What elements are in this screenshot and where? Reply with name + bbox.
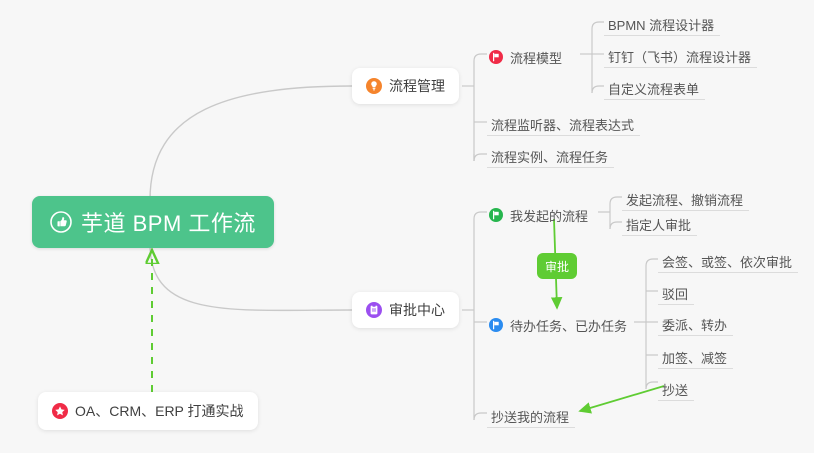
leaf-label: 钉钉（飞书）流程设计器 (608, 51, 751, 64)
leaf-label: 驳回 (662, 288, 688, 301)
leaf-label: 发起流程、撤销流程 (626, 194, 743, 207)
branch-label: 流程管理 (389, 76, 445, 96)
leaf-node-delegate-transfer[interactable]: 委派、转办 (658, 308, 733, 336)
node-cc-to-me[interactable]: 抄送我的流程 (487, 400, 575, 428)
node-label: 我发起的流程 (510, 210, 588, 223)
leaf-node-start-cancel-process[interactable]: 发起流程、撤销流程 (622, 183, 749, 211)
node-label: 流程模型 (510, 52, 562, 65)
footer-node-integration[interactable]: OA、CRM、ERP 打通实战 (38, 392, 258, 430)
root-label: 芋道 BPM 工作流 (81, 206, 256, 238)
leaf-label: 加签、减签 (662, 352, 727, 365)
node-label: 流程实例、流程任务 (491, 151, 608, 164)
leaf-label: BPMN 流程设计器 (608, 19, 714, 32)
node-label: 流程监听器、流程表达式 (491, 119, 634, 132)
branch-label: 审批中心 (389, 300, 445, 320)
footer-label: OA、CRM、ERP 打通实战 (75, 401, 244, 421)
star-icon (52, 403, 68, 419)
flag-icon-green (489, 208, 503, 222)
leaf-node-reject[interactable]: 驳回 (658, 277, 694, 305)
node-process-model[interactable]: 流程模型 (487, 40, 568, 68)
lightbulb-icon (366, 78, 382, 94)
leaf-label: 委派、转办 (662, 319, 727, 332)
leaf-node-cc[interactable]: 抄送 (658, 373, 694, 401)
flag-icon-red (489, 50, 503, 64)
node-process-instance[interactable]: 流程实例、流程任务 (487, 140, 614, 168)
branch-node-process-management[interactable]: 流程管理 (352, 68, 459, 104)
node-my-started-processes[interactable]: 我发起的流程 (487, 198, 594, 226)
leaf-label: 自定义流程表单 (608, 83, 699, 96)
node-label: 抄送我的流程 (491, 411, 569, 424)
leaf-label: 指定人审批 (626, 219, 691, 232)
clipboard-icon (366, 302, 382, 318)
mindmap-canvas: 芋道 BPM 工作流 流程管理 流程模型 BPMN 流程设计器 钉钉（飞书）流程 (0, 0, 814, 453)
leaf-label: 会签、或签、依次审批 (662, 256, 792, 269)
leaf-label: 抄送 (662, 384, 688, 397)
node-label: 待办任务、已办任务 (510, 320, 627, 333)
annotation-label: 审批 (545, 258, 569, 275)
flag-icon-blue (489, 318, 503, 332)
leaf-node-add-remove-sign[interactable]: 加签、减签 (658, 341, 733, 369)
leaf-node-countersign[interactable]: 会签、或签、依次审批 (658, 245, 798, 273)
leaf-node-dingtalk-designer[interactable]: 钉钉（飞书）流程设计器 (604, 40, 757, 68)
thumbs-up-icon (50, 211, 72, 233)
leaf-node-custom-form[interactable]: 自定义流程表单 (604, 72, 705, 100)
branch-node-approval-center[interactable]: 审批中心 (352, 292, 459, 328)
node-process-listener[interactable]: 流程监听器、流程表达式 (487, 108, 640, 136)
leaf-node-assigned-approver[interactable]: 指定人审批 (622, 208, 697, 236)
node-todo-done-tasks[interactable]: 待办任务、已办任务 (487, 308, 633, 336)
annotation-badge-approve: 审批 (537, 253, 577, 279)
root-node[interactable]: 芋道 BPM 工作流 (32, 196, 274, 248)
leaf-node-bpmn-designer[interactable]: BPMN 流程设计器 (604, 8, 720, 36)
